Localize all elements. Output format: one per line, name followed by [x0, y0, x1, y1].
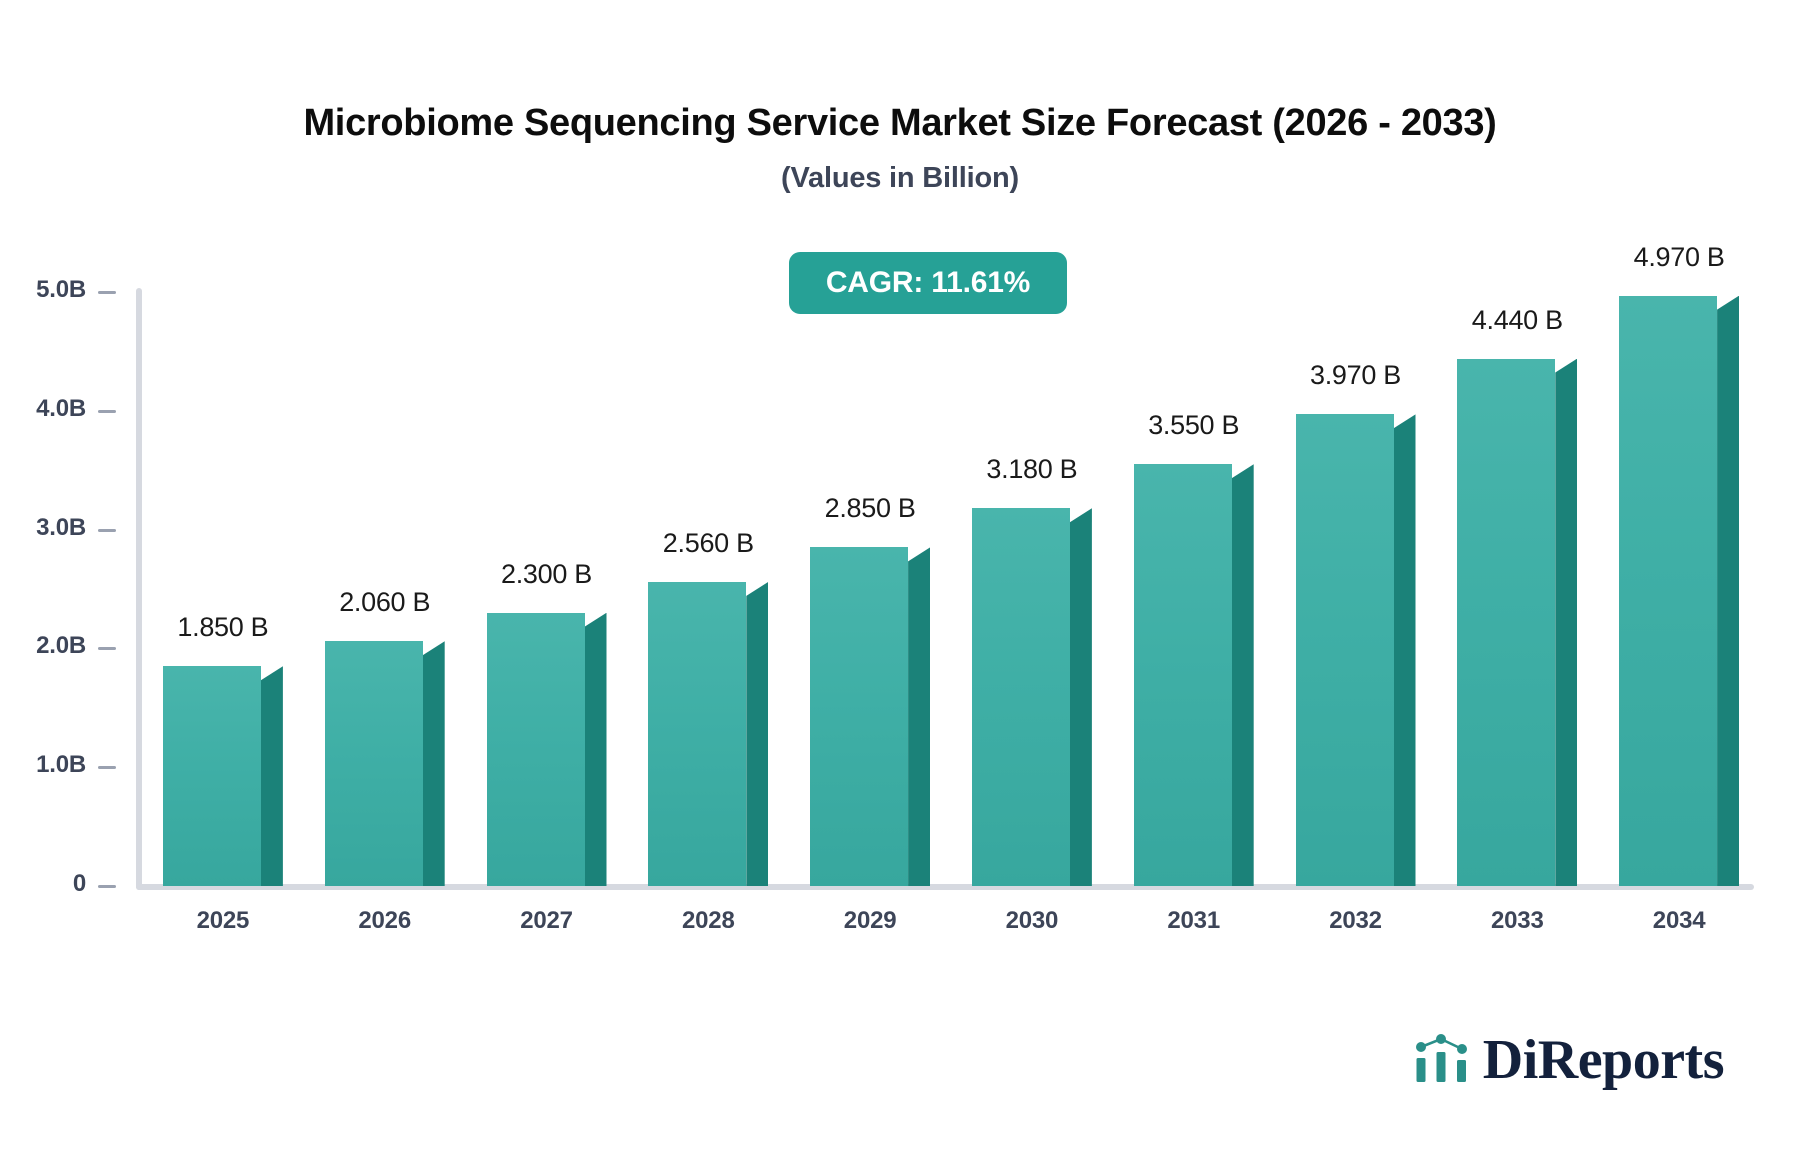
bar-side-face — [1070, 508, 1092, 886]
x-axis-label: 2034 — [1653, 907, 1706, 935]
bar-front-face — [648, 582, 746, 886]
bar-value-label: 3.970 B — [1310, 360, 1401, 391]
bar-front-face — [1457, 359, 1555, 886]
bar-group[interactable]: 2.850 B2029 — [810, 0, 930, 1156]
bar-front-face — [487, 613, 585, 886]
y-axis-tick-label: 3.0B — [36, 514, 86, 542]
bar-value-label: 2.850 B — [825, 493, 916, 524]
y-axis-tick-mark — [98, 291, 116, 294]
bar-side-face — [261, 666, 283, 886]
bar-group[interactable]: 3.970 B2032 — [1296, 0, 1416, 1156]
bar[interactable] — [1457, 359, 1555, 886]
bar-value-label: 3.180 B — [986, 454, 1077, 485]
x-axis-label: 2025 — [197, 907, 250, 935]
bar[interactable] — [1296, 414, 1394, 886]
bar-group[interactable]: 4.440 B2033 — [1457, 0, 1577, 1156]
bar-front-face — [1134, 464, 1232, 886]
bar-group[interactable]: 4.970 B2034 — [1619, 0, 1739, 1156]
bar-side-face — [746, 582, 768, 886]
bar[interactable] — [648, 582, 746, 886]
x-axis-label: 2029 — [844, 907, 897, 935]
bar-value-label: 2.300 B — [501, 559, 592, 590]
bar-value-label: 3.550 B — [1148, 410, 1239, 441]
bar-front-face — [325, 641, 423, 886]
x-axis-label: 2026 — [358, 907, 411, 935]
plot-area: 5.0B4.0B3.0B2.0B1.0B0 1.850 B20252.060 B… — [0, 0, 1800, 1156]
bar-side-face — [423, 641, 445, 886]
y-axis-tick-label: 5.0B — [36, 276, 86, 304]
bar-side-face — [1717, 296, 1739, 886]
bar[interactable] — [1134, 464, 1232, 886]
bar-side-face — [1232, 464, 1254, 886]
bar-side-face — [908, 547, 930, 886]
bar-front-face — [1619, 296, 1717, 886]
bar-value-label: 2.560 B — [663, 528, 754, 559]
bar-group[interactable]: 2.560 B2028 — [648, 0, 768, 1156]
bar[interactable] — [810, 547, 908, 886]
x-axis-label: 2033 — [1491, 907, 1544, 935]
bar-side-face — [1555, 359, 1577, 886]
x-axis-label: 2030 — [1006, 907, 1059, 935]
y-axis-tick-mark — [98, 766, 116, 769]
logo-text: DiReports — [1483, 1032, 1724, 1088]
bar-group[interactable]: 1.850 B2025 — [163, 0, 283, 1156]
bar-value-label: 1.850 B — [177, 612, 268, 643]
bar-series: 1.850 B20252.060 B20262.300 B20272.560 B… — [136, 0, 1754, 1156]
x-axis-label: 2031 — [1167, 907, 1220, 935]
bar-value-label: 4.440 B — [1472, 305, 1563, 336]
bar-value-label: 2.060 B — [339, 587, 430, 618]
y-axis-tick-label: 2.0B — [36, 632, 86, 660]
bar-group[interactable]: 3.180 B2030 — [972, 0, 1092, 1156]
bar[interactable] — [1619, 296, 1717, 886]
bar[interactable] — [487, 613, 585, 886]
y-axis-tick-label: 1.0B — [36, 751, 86, 779]
bar[interactable] — [163, 666, 261, 886]
bar[interactable] — [972, 508, 1070, 886]
bar-group[interactable]: 2.060 B2026 — [325, 0, 445, 1156]
x-axis-label: 2032 — [1329, 907, 1382, 935]
bar-front-face — [810, 547, 908, 886]
y-axis-tick-mark — [98, 529, 116, 532]
bar-side-face — [585, 613, 607, 886]
bar-group[interactable]: 2.300 B2027 — [487, 0, 607, 1156]
bar-side-face — [1394, 414, 1416, 886]
bar-value-label: 4.970 B — [1634, 242, 1725, 273]
x-axis-label: 2027 — [520, 907, 573, 935]
y-axis-tick-label: 0 — [73, 870, 86, 898]
bar-front-face — [972, 508, 1070, 886]
y-axis-tick-mark — [98, 647, 116, 650]
x-axis-label: 2028 — [682, 907, 735, 935]
chart-page: Microbiome Sequencing Service Market Siz… — [0, 0, 1800, 1156]
brand-logo: DiReports — [1413, 1032, 1724, 1088]
bar-front-face — [163, 666, 261, 886]
bar-group[interactable]: 3.550 B2031 — [1134, 0, 1254, 1156]
bar[interactable] — [325, 641, 423, 886]
bar-chart-icon — [1413, 1034, 1473, 1086]
y-axis-tick-mark — [98, 410, 116, 413]
bar-front-face — [1296, 414, 1394, 886]
y-axis-tick-label: 4.0B — [36, 395, 86, 423]
y-axis-tick-mark — [98, 885, 116, 888]
